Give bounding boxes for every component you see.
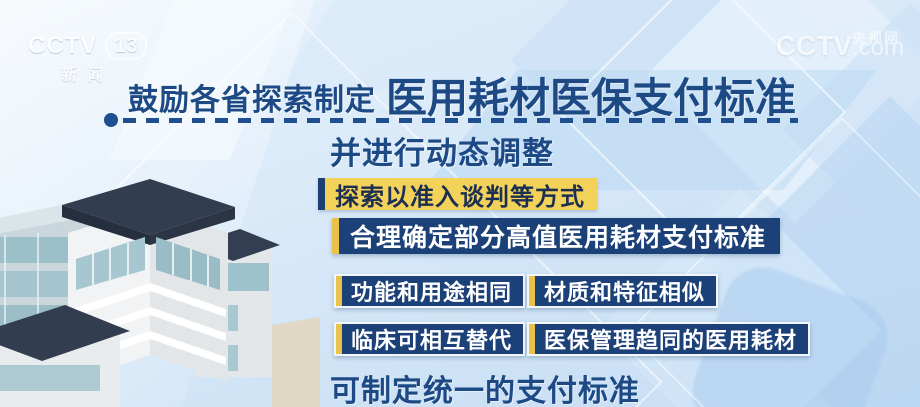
dashed-rule [123,118,798,123]
headline-lead-in: 鼓励各省探索制定 [128,86,376,119]
headline-dotted-rule [108,117,798,123]
criteria-chip: 医保管理趋同的医用耗材 [527,322,810,356]
highlight-band: 探索以准入谈判等方式 [318,178,597,210]
watermark-domain-main: CCTV [776,30,852,61]
building-annex [272,317,320,407]
hospital-building-illustration [0,137,320,407]
criteria-chip-label: 医保管理趋同的医用耗材 [535,323,808,355]
criteria-chip: 材质和特征相似 [527,274,718,308]
watermark-chinese-name: 央视网 [852,28,900,48]
criteria-chip: 临床可相互替代 [334,322,525,356]
primary-band-label: 合理确定部分高值医用耗材支付标准 [339,218,780,254]
bg-outline-diamond-3 [627,117,920,407]
criteria-chip-label: 临床可相互替代 [342,323,523,355]
criteria-chip-label: 材质和特征相似 [535,275,716,307]
headline-primary-row: 鼓励各省探索制定 医用耗材医保支付标准 [128,78,796,119]
news-graphic-stage: CCTV 13 新闻 央视网 CCTV.com 鼓励各省探索制定 医用耗材医保支… [0,0,920,407]
bullet-dot-icon [104,113,118,127]
highlight-band-label: 探索以准入谈判等方式 [325,177,597,212]
cctv-com-watermark: 央视网 CCTV.com [776,30,904,62]
cctv-logo-text: CCTV [28,32,97,60]
channel-bug-row: CCTV 13 [28,32,147,60]
highlight-band-accent-bar [318,178,325,210]
primary-band-accent-bar [332,218,339,254]
criteria-chip: 功能和用途相同 [334,274,525,308]
channel-number-badge: 13 [105,32,146,60]
criteria-chip-label: 功能和用途相同 [342,275,523,307]
building-front-glass [0,365,100,391]
headline-emphasis: 医用耗材医保支付标准 [386,78,796,119]
headline-second-line: 并进行动态调整 [330,128,554,173]
conclusion-label: 可制定统一的支付标准 [330,366,640,407]
primary-band: 合理确定部分高值医用耗材支付标准 [332,218,780,254]
